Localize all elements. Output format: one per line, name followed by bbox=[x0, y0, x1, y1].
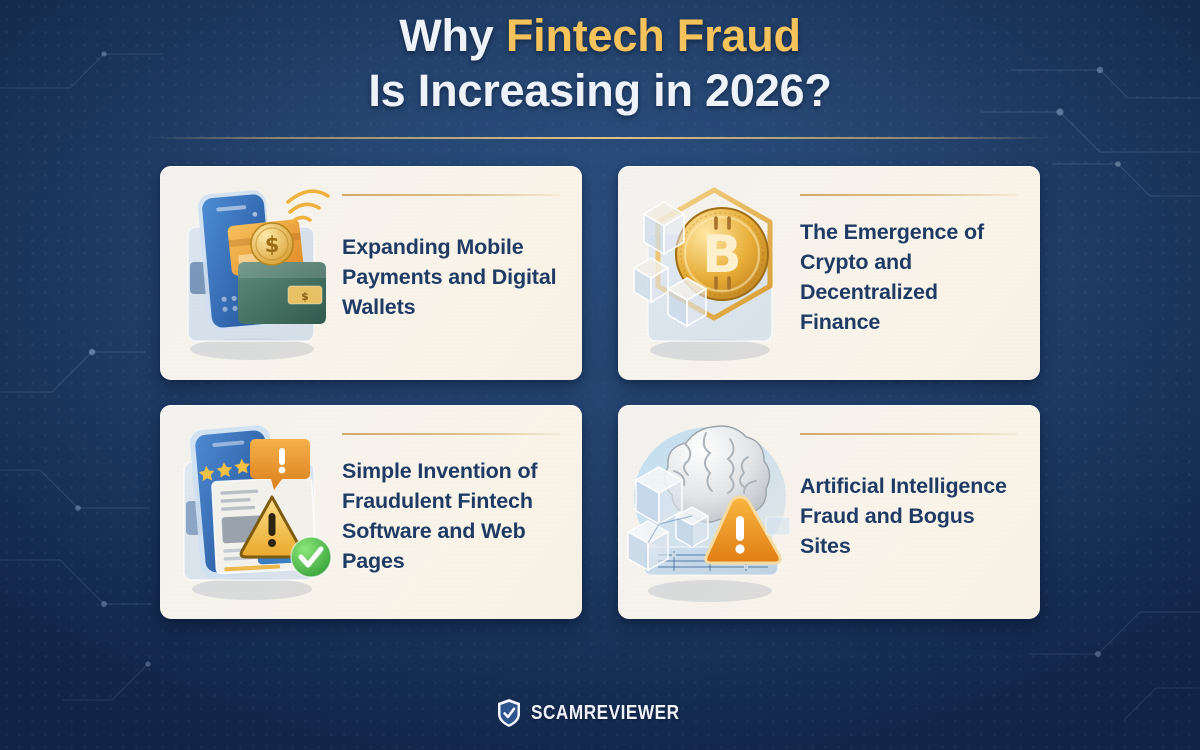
card-title: The Emergence of Crypto and Decentralize… bbox=[800, 217, 1018, 337]
card-body: The Emergence of Crypto and Decentralize… bbox=[800, 166, 1040, 380]
card-crypto-defi[interactable]: B bbox=[618, 166, 1040, 380]
ai-fraud-brain-illustration bbox=[618, 405, 800, 619]
svg-text:$: $ bbox=[265, 233, 280, 257]
shield-check-logo bbox=[496, 698, 522, 728]
card-body: Expanding Mobile Payments and Digital Wa… bbox=[342, 166, 582, 380]
card-title: Expanding Mobile Payments and Digital Wa… bbox=[342, 232, 560, 322]
svg-text:$: $ bbox=[301, 290, 309, 303]
footer-brand: SCAMREVIEWER bbox=[0, 698, 1200, 728]
title-text-plain: Why bbox=[399, 10, 506, 61]
card-divider bbox=[800, 433, 1018, 435]
card-mobile-payments[interactable]: $ $ Expanding Mobile Payments and Digita… bbox=[160, 166, 582, 380]
title-text-highlight: Fintech Fraud bbox=[506, 10, 801, 61]
card-ai-fraud[interactable]: Artificial Intelligence Fraud and Bogus … bbox=[618, 405, 1040, 619]
page-title-line-1: Why Fintech Fraud bbox=[0, 8, 1200, 63]
card-divider bbox=[342, 194, 560, 196]
card-body: Artificial Intelligence Fraud and Bogus … bbox=[800, 405, 1040, 619]
fraudulent-software-illustration bbox=[160, 405, 342, 619]
card-grid: $ $ Expanding Mobile Payments and Digita… bbox=[160, 166, 1040, 619]
footer-brand-text: SCAMREVIEWER bbox=[531, 702, 680, 725]
card-divider bbox=[800, 194, 1018, 196]
page-title-line-2: Is Increasing in 2026? bbox=[0, 63, 1200, 118]
page-header: Why Fintech Fraud Is Increasing in 2026? bbox=[0, 0, 1200, 118]
card-title: Simple Invention of Fraudulent Fintech S… bbox=[342, 456, 560, 576]
crypto-blockchain-illustration: B bbox=[618, 166, 800, 380]
card-title: Artificial Intelligence Fraud and Bogus … bbox=[800, 471, 1018, 561]
svg-text:B: B bbox=[702, 225, 742, 285]
card-divider bbox=[342, 433, 560, 435]
card-fraudulent-software[interactable]: Simple Invention of Fraudulent Fintech S… bbox=[160, 405, 582, 619]
mobile-payments-wallet-illustration: $ $ bbox=[160, 166, 342, 380]
title-divider bbox=[148, 137, 1054, 139]
card-body: Simple Invention of Fraudulent Fintech S… bbox=[342, 405, 582, 619]
